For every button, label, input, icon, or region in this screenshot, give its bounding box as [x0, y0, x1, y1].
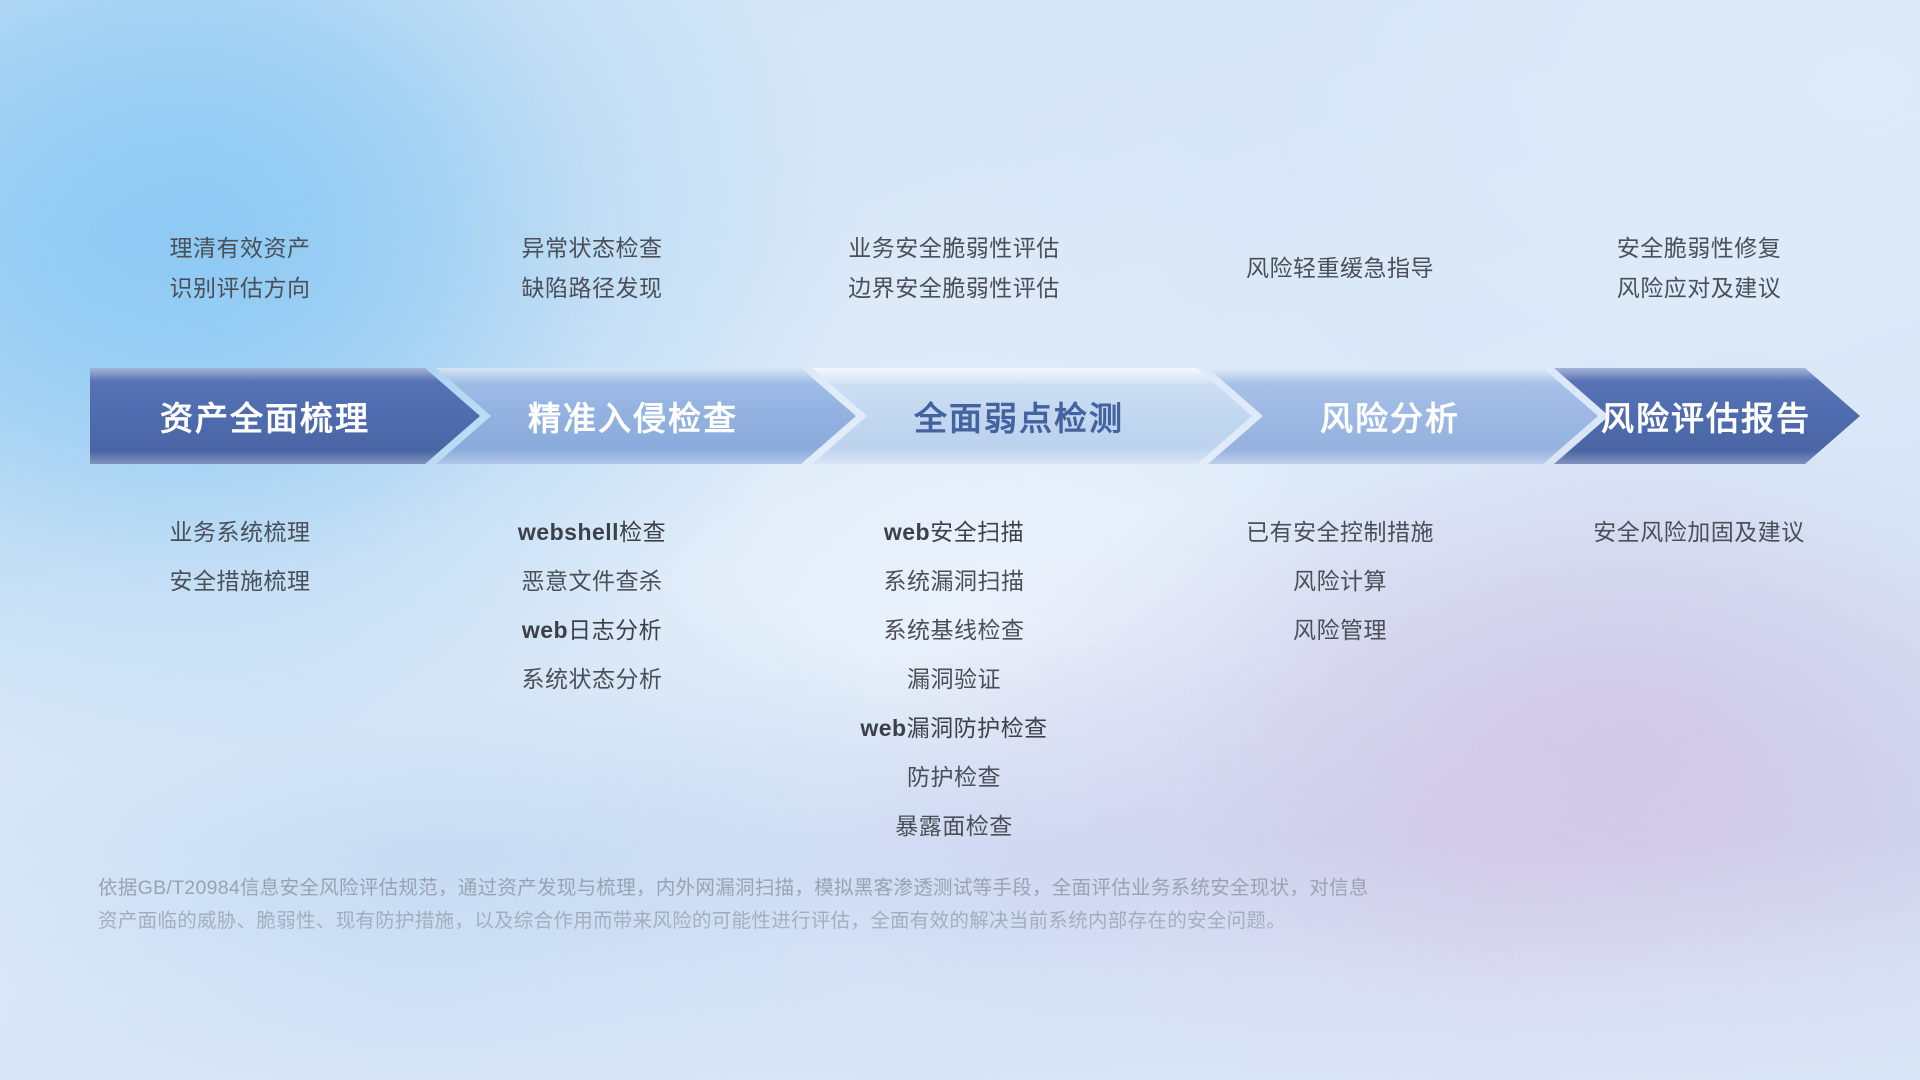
bottom-list-item: 安全措施梳理 [90, 557, 390, 606]
bottom-list-item: 漏洞验证 [774, 655, 1134, 704]
bottom-list-item: web日志分析 [442, 606, 742, 655]
chevron-label: 精准入侵检查 [528, 392, 738, 440]
chevron-label: 风险分析 [1320, 392, 1460, 440]
bottom-list-item: 业务系统梳理 [90, 508, 390, 557]
chevron-label: 全面弱点检测 [914, 392, 1124, 440]
bottom-list-item: 暴露面检查 [774, 802, 1134, 851]
process-chevron-band: 资产全面梳理 精准入侵检查 全面弱点检测 风险分析 [90, 368, 1860, 464]
chevron-risk-analysis[interactable]: 风险分析 [1208, 368, 1598, 464]
bottom-list-item: 已有安全控制措施 [1180, 508, 1500, 557]
chevron-intrusion-check[interactable]: 精准入侵检查 [436, 368, 856, 464]
chevron-weakness-detection[interactable]: 全面弱点检测 [812, 368, 1252, 464]
bottom-list-item: webshell检查 [442, 508, 742, 557]
bottom-list-item: web漏洞防护检查 [774, 704, 1134, 753]
bottom-list-item: 系统漏洞扫描 [774, 557, 1134, 606]
footer-line: 依据GB/T20984信息安全风险评估规范，通过资产发现与梳理，内外网漏洞扫描，… [98, 872, 1598, 905]
bottom-list-item: 安全风险加固及建议 [1538, 508, 1860, 557]
bottom-list-item: 系统基线检查 [774, 606, 1134, 655]
bottom-list-weakness-detection: web安全扫描 系统漏洞扫描 系统基线检查 漏洞验证 web漏洞防护检查 防护检… [774, 508, 1134, 851]
bottom-list-item: 防护检查 [774, 753, 1134, 802]
chevron-asset-inventory[interactable]: 资产全面梳理 [90, 368, 480, 464]
footer-line: 资产面临的威胁、脆弱性、现有防护措施，以及综合作用而带来风险的可能性进行评估，全… [98, 905, 1598, 938]
bottom-list-item: 风险计算 [1180, 557, 1500, 606]
bottom-list-item: web安全扫描 [774, 508, 1134, 557]
bottom-list-risk-report: 安全风险加固及建议 [1538, 508, 1860, 557]
bottom-list-risk-analysis: 已有安全控制措施 风险计算 风险管理 [1180, 508, 1500, 655]
chevron-label: 资产全面梳理 [160, 392, 370, 440]
bottom-list-item: 恶意文件查杀 [442, 557, 742, 606]
bottom-list-item: 风险管理 [1180, 606, 1500, 655]
bottom-list-intrusion-check: webshell检查 恶意文件查杀 web日志分析 系统状态分析 [442, 508, 742, 704]
slide-canvas: 理清有效资产 识别评估方向 异常状态检查 缺陷路径发现 业务安全脆弱性评估 边界… [0, 0, 1920, 1080]
footer-description: 依据GB/T20984信息安全风险评估规范，通过资产发现与梳理，内外网漏洞扫描，… [98, 872, 1598, 938]
chevron-label: 风险评估报告 [1601, 392, 1811, 440]
bottom-list-asset-inventory: 业务系统梳理 安全措施梳理 [90, 508, 390, 606]
chevron-risk-report[interactable]: 风险评估报告 [1554, 368, 1860, 464]
bottom-list-item: 系统状态分析 [442, 655, 742, 704]
